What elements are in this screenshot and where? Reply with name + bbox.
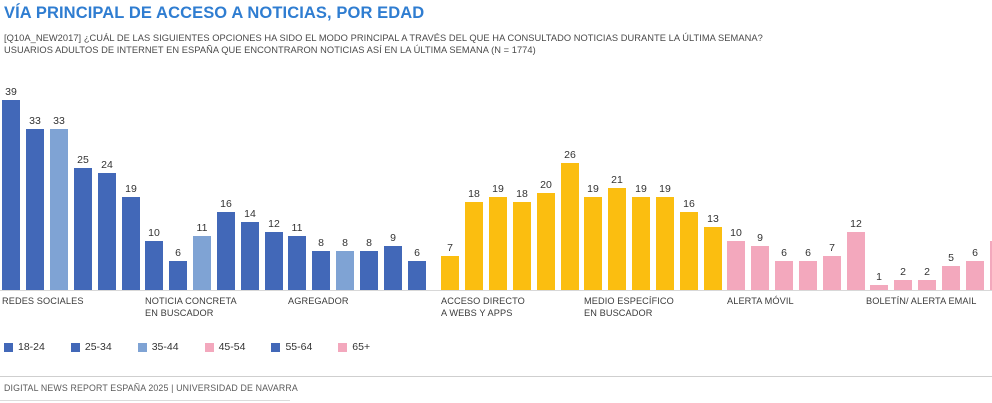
bar-value-label: 16: [683, 199, 695, 210]
x-axis-label: AGREGADOR: [288, 296, 349, 308]
x-axis-label: NOTICIA CONCRETA EN BUSCADOR: [145, 296, 237, 319]
legend-swatch-icon: [338, 343, 347, 352]
bar-item[interactable]: 5: [942, 78, 960, 290]
bar[interactable]: [656, 197, 674, 290]
bar[interactable]: [74, 168, 92, 290]
bar[interactable]: [704, 227, 722, 290]
bar-value-label: 1: [876, 272, 882, 283]
bar[interactable]: [288, 236, 306, 290]
bar-item[interactable]: 6: [799, 78, 817, 290]
bar[interactable]: [680, 212, 698, 290]
bar-item[interactable]: 12: [847, 78, 865, 290]
bar[interactable]: [513, 202, 531, 290]
bar[interactable]: [823, 256, 841, 290]
legend-swatch-icon: [71, 343, 80, 352]
legend-label: 65+: [352, 341, 370, 353]
bar[interactable]: [265, 232, 283, 290]
legend-label: 35-44: [152, 341, 179, 353]
bar[interactable]: [408, 261, 426, 290]
bar-value-label: 19: [492, 184, 504, 195]
bar[interactable]: [751, 246, 769, 290]
bar-chart-plot-area: 3933332524191061116141211888967181918202…: [0, 78, 992, 290]
bar-value-label: 8: [318, 238, 324, 249]
bar[interactable]: [193, 236, 211, 290]
bar-item[interactable]: 7: [823, 78, 841, 290]
bar[interactable]: [312, 251, 330, 290]
bar[interactable]: [2, 100, 20, 290]
bar-value-label: 39: [5, 87, 17, 98]
bar[interactable]: [145, 241, 163, 290]
bar[interactable]: [775, 261, 793, 290]
bar-item[interactable]: 6: [775, 78, 793, 290]
bar-item[interactable]: 24: [98, 78, 116, 290]
bar-item[interactable]: 9: [751, 78, 769, 290]
bar-item[interactable]: 13: [704, 78, 722, 290]
bar-item[interactable]: 39: [2, 78, 20, 290]
bar-item[interactable]: 33: [50, 78, 68, 290]
bar[interactable]: [561, 163, 579, 290]
bar-value-label: 2: [900, 267, 906, 278]
bar-value-label: 6: [175, 248, 181, 259]
x-axis-label: ACCESO DIRECTO A WEBS Y APPS: [441, 296, 525, 319]
legend-item[interactable]: 65+: [338, 341, 370, 353]
bar-value-label: 19: [125, 184, 137, 195]
bar-value-label: 11: [197, 223, 208, 234]
bar-item[interactable]: 26: [561, 78, 579, 290]
bar-value-label: 26: [564, 150, 576, 161]
bar-item[interactable]: 14: [241, 78, 259, 290]
bar[interactable]: [966, 261, 984, 290]
bar-value-label: 11: [292, 223, 303, 234]
bar[interactable]: [217, 212, 235, 290]
subtitle-line-1: [Q10A_NEW2017] ¿CUÁL DE LAS SIGUIENTES O…: [4, 33, 763, 43]
bar[interactable]: [50, 129, 68, 290]
bar-value-label: 33: [29, 116, 41, 127]
bar-value-label: 19: [635, 184, 647, 195]
page-title: VÍA PRINCIPAL DE ACCESO A NOTICIAS, POR …: [4, 4, 424, 23]
bar[interactable]: [918, 280, 936, 290]
bar-item[interactable]: 8: [360, 78, 378, 290]
bar-group: 10966712: [727, 78, 865, 290]
bar-value-label: 9: [390, 233, 396, 244]
legend-item[interactable]: 35-44: [138, 341, 179, 353]
legend-item[interactable]: 18-24: [4, 341, 45, 353]
bar-value-label: 6: [972, 248, 978, 259]
bar-value-label: 19: [587, 184, 599, 195]
footer-divider: [0, 376, 992, 377]
bar[interactable]: [632, 197, 650, 290]
bar-value-label: 12: [268, 219, 280, 230]
legend-swatch-icon: [4, 343, 13, 352]
subtitle-line-2: USUARIOS ADULTOS DE INTERNET EN ESPAÑA Q…: [4, 45, 536, 55]
legend-item[interactable]: 45-54: [205, 341, 246, 353]
bar-item[interactable]: 9: [384, 78, 402, 290]
bar[interactable]: [441, 256, 459, 290]
legend-item[interactable]: 55-64: [271, 341, 312, 353]
bar[interactable]: [894, 280, 912, 290]
bar-group: 393333252419: [2, 78, 140, 290]
bar-item[interactable]: 8: [312, 78, 330, 290]
bar-value-label: 7: [829, 243, 835, 254]
bar-value-label: 8: [342, 238, 348, 249]
bar-item[interactable]: 33: [26, 78, 44, 290]
x-axis-label: REDES SOCIALES: [2, 296, 84, 308]
chart-legend: 18-2425-3435-4445-5455-6465+: [4, 341, 396, 353]
footer-underline: [0, 400, 290, 401]
legend-swatch-icon: [205, 343, 214, 352]
bar-value-label: 2: [924, 267, 930, 278]
bar-value-label: 12: [850, 219, 862, 230]
bar-value-label: 18: [516, 189, 528, 200]
bar-group: 1188896: [288, 78, 426, 290]
x-axis-labels: REDES SOCIALESNOTICIA CONCRETA EN BUSCAD…: [0, 296, 992, 326]
bar-item[interactable]: 19: [489, 78, 507, 290]
bar-value-label: 9: [757, 233, 763, 244]
bar[interactable]: [169, 261, 187, 290]
legend-label: 45-54: [219, 341, 246, 353]
bar-item[interactable]: 18: [513, 78, 531, 290]
bar-item[interactable]: 2: [918, 78, 936, 290]
bar-item[interactable]: 25: [74, 78, 92, 290]
bar[interactable]: [360, 251, 378, 290]
bar[interactable]: [465, 202, 483, 290]
bar-item[interactable]: 6: [408, 78, 426, 290]
bar-value-label: 13: [707, 214, 719, 225]
bar-value-label: 7: [447, 243, 453, 254]
bar-item[interactable]: 19: [584, 78, 602, 290]
footer-text: DIGITAL NEWS REPORT ESPAÑA 2025 | UNIVER…: [4, 383, 298, 393]
bar-value-label: 14: [244, 209, 256, 220]
bar-item[interactable]: 6: [966, 78, 984, 290]
bar-group: 192119191613: [584, 78, 722, 290]
bar-value-label: 6: [805, 248, 811, 259]
bar-value-label: 10: [148, 228, 160, 239]
x-axis-label: ALERTA MÓVIL: [727, 296, 794, 308]
bar-item[interactable]: 6: [169, 78, 187, 290]
bar[interactable]: [26, 129, 44, 290]
x-axis-label: BOLETÍN/ ALERTA EMAIL: [866, 296, 977, 308]
bar[interactable]: [384, 246, 402, 290]
bar-item[interactable]: 19: [656, 78, 674, 290]
axis-baseline: [0, 290, 992, 291]
bar[interactable]: [98, 173, 116, 290]
bar-value-label: 6: [414, 248, 420, 259]
legend-swatch-icon: [138, 343, 147, 352]
legend-label: 18-24: [18, 341, 45, 353]
bar-item[interactable]: 21: [608, 78, 626, 290]
bar-item[interactable]: 10: [727, 78, 745, 290]
bar-value-label: 25: [77, 155, 89, 166]
x-axis-label: MEDIO ESPECÍFICO EN BUSCADOR: [584, 296, 674, 319]
bar-value-label: 6: [781, 248, 787, 259]
bar[interactable]: [241, 222, 259, 290]
chart-subtitle: [Q10A_NEW2017] ¿CUÁL DE LAS SIGUIENTES O…: [4, 32, 763, 56]
bar-item[interactable]: 8: [336, 78, 354, 290]
bar-value-label: 19: [659, 184, 671, 195]
bar[interactable]: [942, 266, 960, 290]
bar-item[interactable]: 19: [632, 78, 650, 290]
bar-group: 71819182026: [441, 78, 579, 290]
bar-value-label: 24: [101, 160, 113, 171]
bar[interactable]: [489, 197, 507, 290]
bar-value-label: 20: [540, 180, 552, 191]
bar-value-label: 18: [468, 189, 480, 200]
bar-item[interactable]: 10: [145, 78, 163, 290]
bar-item[interactable]: 11: [193, 78, 211, 290]
bar[interactable]: [799, 261, 817, 290]
bar[interactable]: [727, 241, 745, 290]
bar-value-label: 16: [220, 199, 232, 210]
legend-item[interactable]: 25-34: [71, 341, 112, 353]
bar-item[interactable]: 2: [894, 78, 912, 290]
bar-group: 1225610: [870, 78, 992, 290]
bar[interactable]: [847, 232, 865, 290]
bar[interactable]: [537, 193, 555, 290]
legend-label: 25-34: [85, 341, 112, 353]
bar-item[interactable]: 18: [465, 78, 483, 290]
legend-swatch-icon: [271, 343, 280, 352]
bar[interactable]: [584, 197, 602, 290]
bar-value-label: 10: [730, 228, 742, 239]
bar-item[interactable]: 20: [537, 78, 555, 290]
bar-item[interactable]: 16: [217, 78, 235, 290]
bar-item[interactable]: 7: [441, 78, 459, 290]
bar[interactable]: [122, 197, 140, 290]
bar-item[interactable]: 11: [288, 78, 306, 290]
bar-value-label: 5: [948, 253, 954, 264]
bar[interactable]: [608, 188, 626, 290]
bar-item[interactable]: 1: [870, 78, 888, 290]
bar-item[interactable]: 19: [122, 78, 140, 290]
bar-item[interactable]: 12: [265, 78, 283, 290]
bar-item[interactable]: 16: [680, 78, 698, 290]
bar-value-label: 21: [611, 175, 623, 186]
bar-value-label: 8: [366, 238, 372, 249]
legend-label: 55-64: [285, 341, 312, 353]
bar-group: 10611161412: [145, 78, 283, 290]
bar-value-label: 33: [53, 116, 65, 127]
bar[interactable]: [336, 251, 354, 290]
